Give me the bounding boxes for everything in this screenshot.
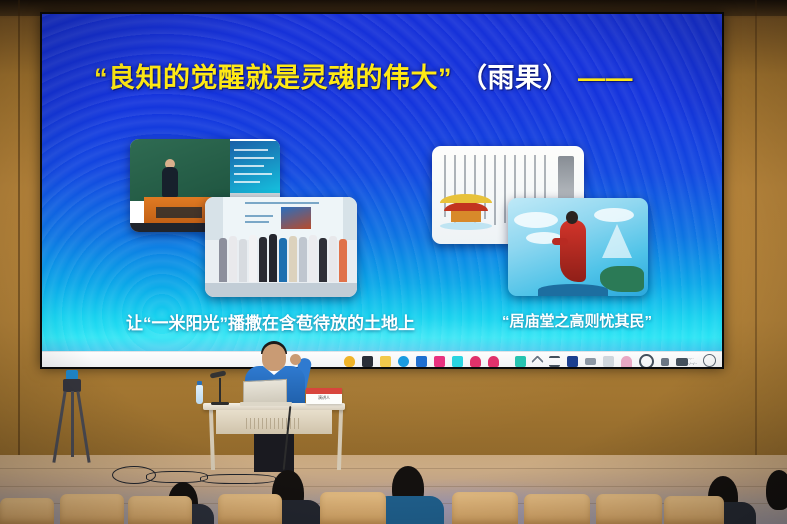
desk-vent-pattern (246, 418, 302, 429)
caption-left: 让“一米阳光”播撒在含苞待放的土地上 (126, 309, 415, 334)
volume-icon[interactable] (661, 358, 669, 366)
speaker-legs (254, 434, 294, 472)
caption-right: “居庙堂之高则忧其民” (502, 310, 652, 331)
audience-chair (0, 498, 54, 524)
projection-screen-frame: “良知的觉醒就是灵魂的伟大” （雨果） —— (40, 12, 724, 369)
chevron-up-icon[interactable] (531, 355, 544, 367)
clock-icon[interactable] (639, 354, 654, 367)
app-icon-blue-square[interactable] (416, 356, 427, 367)
projection-screen[interactable]: “良知的觉醒就是灵魂的伟大” （雨果） —— (42, 14, 722, 367)
slide-headline: “良知的觉醒就是灵魂的伟大” （雨果） —— (94, 58, 694, 98)
name-card-text: 演讲人 (306, 395, 342, 401)
audience-chair (596, 494, 662, 524)
tripod-leg (71, 391, 74, 457)
wps-writer-icon[interactable] (470, 356, 481, 367)
scholar-arm (552, 238, 568, 245)
scholar-photo (508, 198, 648, 296)
headline-dash: —— (578, 63, 633, 93)
mountain-illustration (602, 224, 632, 258)
wps-presentation-icon[interactable] (488, 356, 499, 367)
taskbar-system-tray: ··:·· ····/··/·· (684, 354, 716, 367)
audience-chair (664, 496, 724, 524)
speaker-head (262, 344, 286, 371)
audience-chair (128, 496, 192, 524)
windows-taskbar[interactable]: ··:·· ····/··/·· (42, 351, 722, 367)
shore-illustration (538, 284, 608, 296)
chalkboard (130, 139, 230, 201)
name-card: 演讲人 (306, 388, 342, 404)
group-photo (205, 197, 357, 297)
name-card-header (306, 388, 342, 394)
taskbar-icon-group (344, 354, 688, 367)
keyboard-icon[interactable] (585, 358, 596, 365)
folder-icon[interactable] (380, 356, 391, 367)
water-bottle-cap (197, 381, 202, 385)
audience-chair (218, 494, 282, 524)
headline-quote: “良知的觉醒就是灵魂的伟大” (94, 63, 452, 93)
audience-chair (524, 494, 590, 524)
app-icon-magenta[interactable] (434, 356, 445, 367)
audience-head (766, 470, 787, 510)
app-icon-cyan[interactable] (452, 356, 463, 367)
tray-icon-faint[interactable] (603, 356, 614, 367)
microphone-stand (219, 378, 221, 404)
app-icon-teal[interactable] (515, 356, 526, 367)
classroom-projection (230, 141, 280, 193)
network-icon[interactable] (549, 356, 560, 367)
hall-projection (223, 197, 343, 240)
floor-cable (146, 471, 208, 483)
floor-cable (200, 474, 276, 484)
scholar-head (566, 211, 578, 224)
audience-chair (60, 494, 124, 524)
laptop-base (240, 402, 292, 406)
tray-icon-pink[interactable] (621, 356, 632, 367)
app-icon-navy[interactable] (567, 356, 578, 367)
app-icon-dark[interactable] (362, 356, 373, 367)
speaker-hand (290, 354, 301, 365)
audience-chair (452, 492, 518, 524)
edge-browser-icon[interactable] (398, 356, 409, 367)
audience-chair (320, 492, 386, 524)
water-bottle (196, 385, 203, 404)
hall-floor (205, 283, 357, 297)
lecturer-body (162, 167, 178, 197)
podium-label (156, 207, 202, 218)
notification-bell-icon[interactable] (703, 354, 716, 367)
projection-thumbnail (281, 207, 311, 229)
scholar-robe (560, 220, 586, 282)
lecture-hall-scene: “良知的觉醒就是灵魂的伟大” （雨果） —— (0, 0, 787, 524)
pavilion-illustration (440, 194, 492, 230)
app-icon-yellow[interactable] (344, 356, 355, 367)
headline-attribution: （雨果） (460, 63, 570, 93)
rock-illustration (600, 266, 644, 292)
microphone-base (211, 402, 229, 405)
wall-panel-seam-right (755, 0, 757, 470)
wall-panel-seam-left (18, 0, 20, 470)
taskbar-clock[interactable]: ··:·· ····/··/·· (684, 356, 697, 366)
clock-date: ····/··/·· (684, 361, 697, 366)
